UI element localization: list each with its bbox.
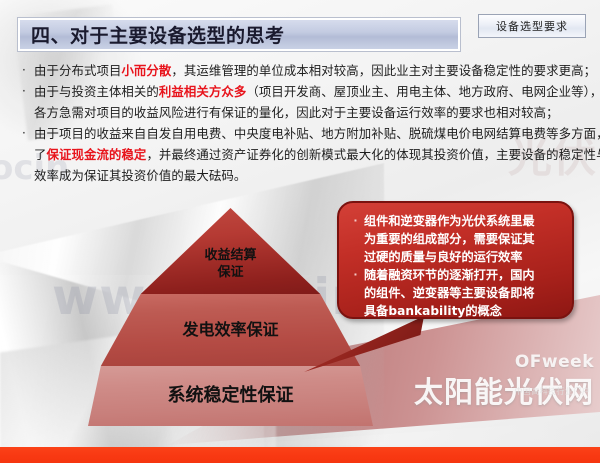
body-line-text: 由于项目的收益来自自发自用电费、中央度电补贴、地方附加补贴、脱硫煤电价电网结算电… bbox=[34, 123, 600, 144]
body-line-text: 由于分布式项目小而分散，其运维管理的单位成本相对较高，因此业主对主要设备稳定性的… bbox=[34, 60, 600, 81]
callout-bullet-spacer: · bbox=[347, 302, 364, 320]
pyramid-top-label-line2: 保证 bbox=[204, 264, 256, 281]
plain-phrase: 各方急需对项目的收益风险进行有保证的量化，因此对于主要设备运行效率的要求也相对较… bbox=[34, 105, 559, 120]
callout-bullet-spacer: · bbox=[347, 284, 364, 302]
plain-phrase: ，其运维管理的单位成本相对较高，因此业主对主要设备稳定性的要求更高； bbox=[171, 63, 596, 78]
pyramid-level-middle-label: 发电效率保证 bbox=[182, 319, 278, 340]
section-badge-label: 设备选型要求 bbox=[496, 18, 568, 34]
callout-bullet-icon: · bbox=[347, 212, 364, 230]
body-line: ·由于分布式项目小而分散，其运维管理的单位成本相对较高，因此业主对主要设备稳定性… bbox=[14, 60, 600, 81]
body-line: ·了保证现金流的稳定，并最终通过资产证券化的创新模式最大化的体现其投资价值，主要… bbox=[14, 144, 600, 165]
pyramid-level-bottom: 系统稳定性保证 bbox=[88, 366, 373, 426]
section-badge[interactable]: 设备选型要求 bbox=[478, 14, 586, 38]
callout-bubble: ·组件和逆变器作为光伏系统里最·为重要的组成部分，需要保证其·过硬的质量与良好的… bbox=[337, 201, 574, 319]
plain-phrase: （项目开发商、屋顶业主、用电主体、地方政府、电网企业等）， bbox=[246, 84, 600, 99]
callout-line-text: 组件和逆变器作为光伏系统里最 bbox=[364, 212, 562, 230]
body-line: ·由于项目的收益来自自发自用电费、中央度电补贴、地方附加补贴、脱硫煤电价电网结算… bbox=[14, 123, 600, 144]
callout-line: ·组件和逆变器作为光伏系统里最 bbox=[347, 212, 562, 230]
plain-phrase: 由于项目的收益来自自发自用电费、中央度电补贴、地方附加补贴、脱硫煤电价电网结算电… bbox=[34, 126, 600, 141]
pyramid-top-label-line1: 收益结算 bbox=[204, 247, 256, 264]
body-bullet-list: ·由于分布式项目小而分散，其运维管理的单位成本相对较高，因此业主对主要设备稳定性… bbox=[14, 60, 600, 186]
callout-line: ·过硬的质量与良好的运行效率 bbox=[347, 248, 562, 266]
plain-phrase: 由于分布式项目 bbox=[34, 63, 121, 78]
pyramid-level-bottom-label: 系统稳定性保证 bbox=[168, 384, 294, 408]
bullet-icon: · bbox=[14, 60, 34, 81]
body-line: ·效率成为保证其投资价值的最大砝码。 bbox=[14, 165, 600, 186]
callout-bullet-spacer: · bbox=[347, 248, 364, 266]
highlighted-phrase: 小而分散 bbox=[121, 63, 171, 78]
body-line-text: 由于与投资主体相关的利益相关方众多（项目开发商、屋顶业主、用电主体、地方政府、电… bbox=[34, 81, 600, 102]
pyramid-level-top-label: 收益结算 保证 bbox=[204, 247, 256, 281]
callout-line-text: 随着融资环节的逐渐打开，国内 bbox=[364, 266, 562, 284]
plain-phrase: 了 bbox=[34, 147, 47, 162]
plain-phrase: 由于与投资主体相关的 bbox=[34, 84, 159, 99]
highlighted-phrase: 利益相关方众多 bbox=[159, 84, 246, 99]
body-line-text: 了保证现金流的稳定，并最终通过资产证券化的创新模式最大化的体现其投资价值，主要设… bbox=[34, 144, 600, 165]
callout-bullet-icon: · bbox=[347, 266, 364, 284]
callout-line: ·随着融资环节的逐渐打开，国内 bbox=[347, 266, 562, 284]
callout-bullet-spacer: · bbox=[347, 230, 364, 248]
body-line: ·由于与投资主体相关的利益相关方众多（项目开发商、屋顶业主、用电主体、地方政府、… bbox=[14, 81, 600, 102]
callout-line: ·具备bankability的概念 bbox=[347, 302, 562, 320]
highlighted-phrase: 保证现金流的稳定 bbox=[47, 147, 147, 162]
pyramid-level-middle: 发电效率保证 bbox=[88, 294, 373, 366]
body-line-text: 效率成为保证其投资价值的最大砝码。 bbox=[34, 165, 600, 186]
pyramid-level-top: 收益结算 保证 bbox=[88, 208, 373, 294]
body-line: ·各方急需对项目的收益风险进行有保证的量化，因此对于主要设备运行效率的要求也相对… bbox=[14, 102, 600, 123]
bullet-spacer: · bbox=[14, 165, 34, 186]
bullet-spacer: · bbox=[14, 144, 34, 165]
callout-line-text: 的组件、逆变器等主要设备即将 bbox=[364, 284, 562, 302]
bullet-icon: · bbox=[14, 81, 34, 102]
callout-line: ·为重要的组成部分，需要保证其 bbox=[347, 230, 562, 248]
callout-line-text: 为重要的组成部分，需要保证其 bbox=[364, 230, 562, 248]
body-line-text: 各方急需对项目的收益风险进行有保证的量化，因此对于主要设备运行效率的要求也相对较… bbox=[34, 102, 600, 123]
callout-line-text: 过硬的质量与良好的运行效率 bbox=[364, 248, 562, 266]
slide-title-bar: 四、对于主要设备选型的思考 bbox=[18, 18, 460, 51]
bullet-icon: · bbox=[14, 123, 34, 144]
pyramid-diagram: 收益结算 保证 发电效率保证 系统稳定性保证 bbox=[88, 208, 373, 426]
plain-phrase: ，并最终通过资产证券化的创新模式最大化的体现其投资价值，主要设备的稳定性与 bbox=[146, 147, 600, 162]
bullet-spacer: · bbox=[14, 102, 34, 123]
callout-line: ·的组件、逆变器等主要设备即将 bbox=[347, 284, 562, 302]
plain-phrase: 效率成为保证其投资价值的最大砝码。 bbox=[34, 168, 246, 183]
slide-canvas: ocin www.docin 光伏 四、对于主要设备选型的思考 设备选型要求 ·… bbox=[0, 0, 600, 463]
callout-line-text: 具备bankability的概念 bbox=[364, 302, 562, 320]
bottom-accent-band bbox=[0, 447, 600, 463]
page-title: 四、对于主要设备选型的思考 bbox=[31, 21, 285, 48]
